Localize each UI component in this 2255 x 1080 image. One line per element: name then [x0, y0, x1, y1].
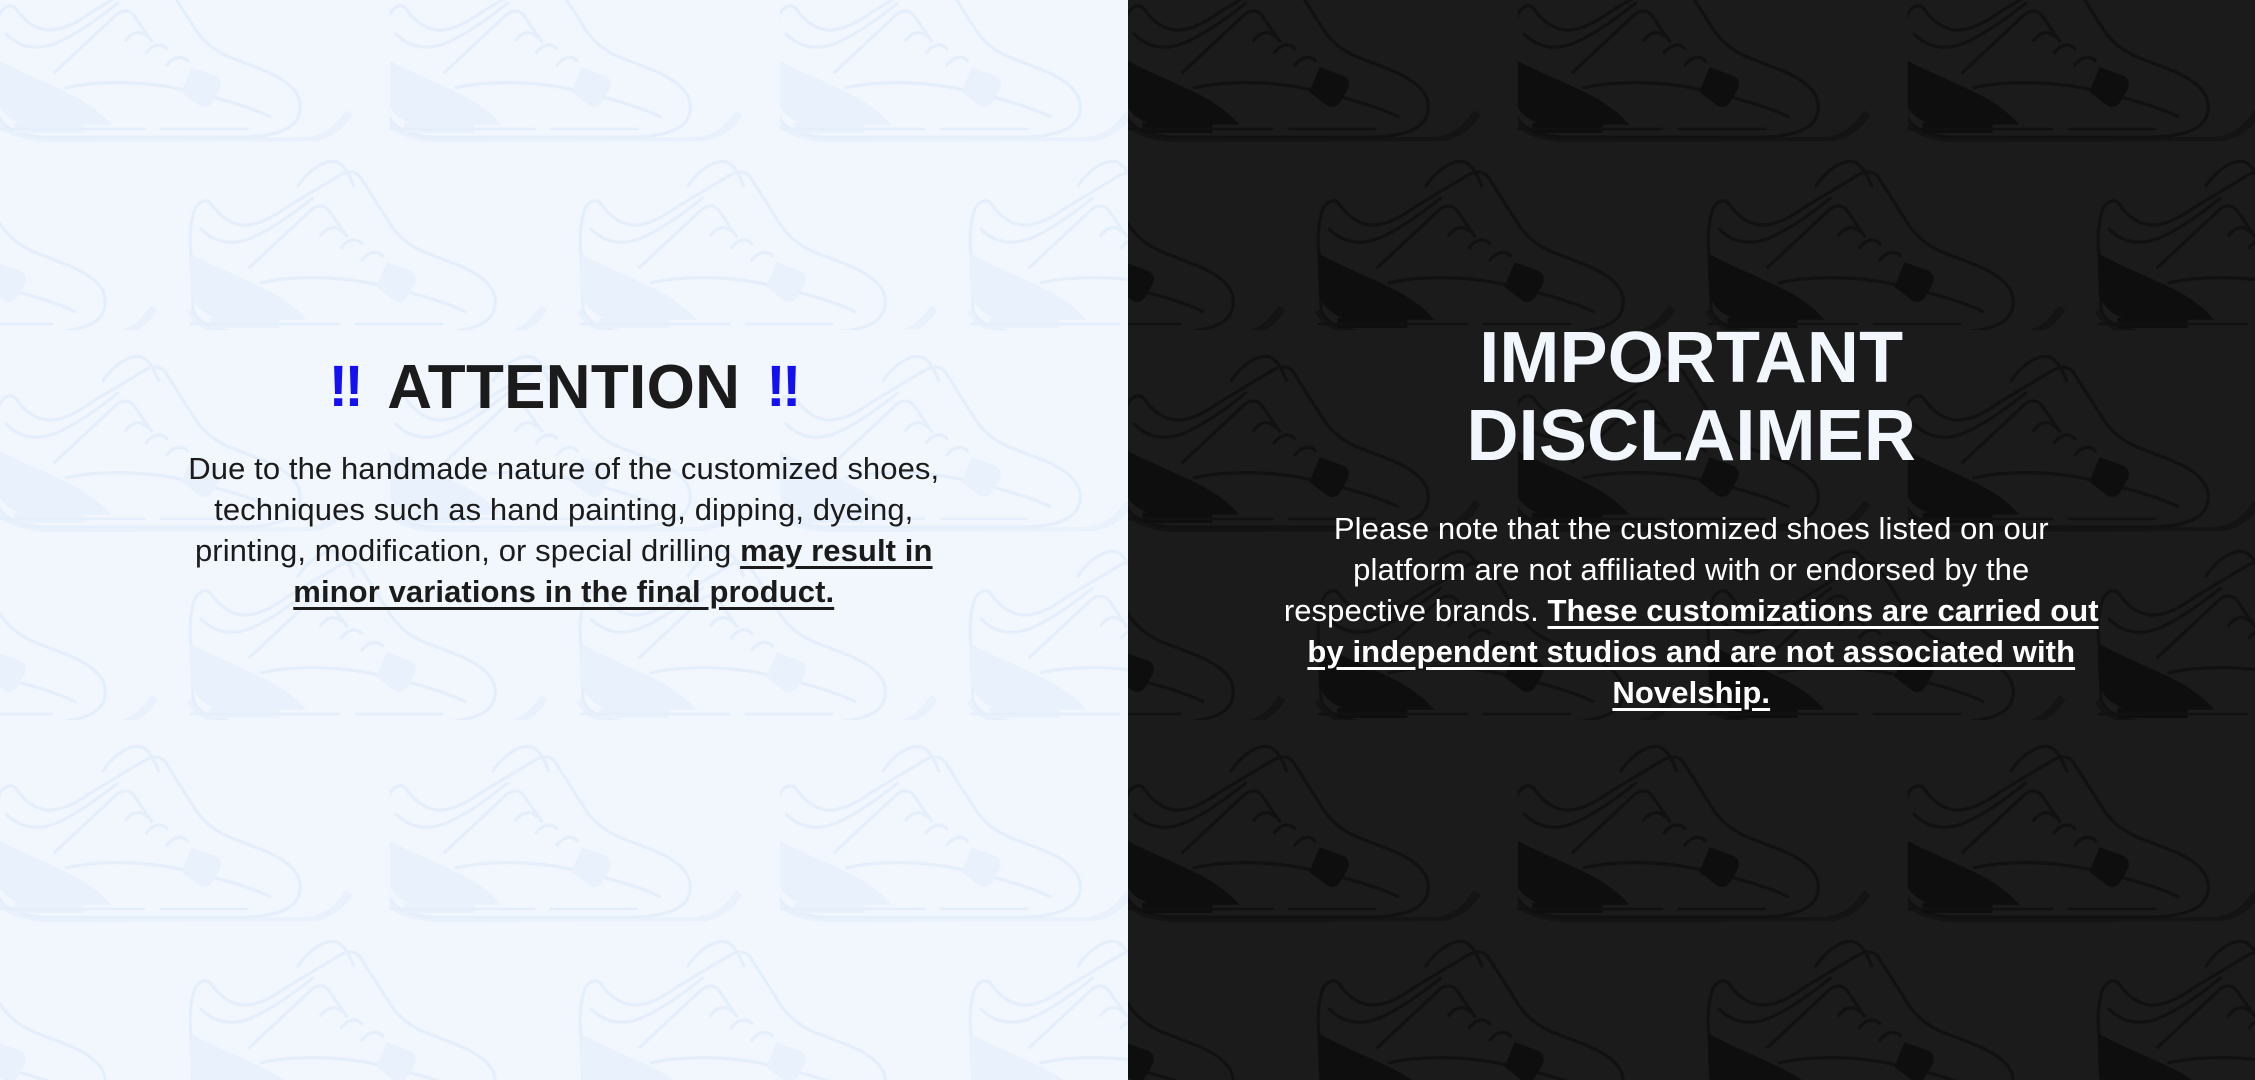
disclaimer-banner: ‼ ATTENTION ‼ Due to the handmade nature… — [0, 0, 2255, 1080]
disclaimer-content: IMPORTANT DISCLAIMER Please note that th… — [1128, 0, 2255, 714]
disclaimer-heading-line-1: IMPORTANT — [1479, 318, 1903, 398]
attention-heading-text: ATTENTION — [387, 355, 740, 421]
disclaimer-heading: IMPORTANT DISCLAIMER — [1341, 320, 2041, 476]
attention-body: Due to the handmade nature of the custom… — [169, 448, 959, 613]
double-exclamation-mark-icon-right: ‼ — [766, 358, 799, 416]
attention-panel: ‼ ATTENTION ‼ Due to the handmade nature… — [0, 0, 1128, 1080]
attention-heading: ‼ ATTENTION ‼ — [329, 355, 799, 421]
disclaimer-panel: IMPORTANT DISCLAIMER Please note that th… — [1128, 0, 2255, 1080]
disclaimer-body: Please note that the customized shoes li… — [1281, 508, 2101, 714]
double-exclamation-mark-icon-left: ‼ — [329, 358, 362, 416]
attention-content: ‼ ATTENTION ‼ Due to the handmade nature… — [0, 0, 1128, 613]
disclaimer-heading-line-2: DISCLAIMER — [1467, 396, 1916, 476]
